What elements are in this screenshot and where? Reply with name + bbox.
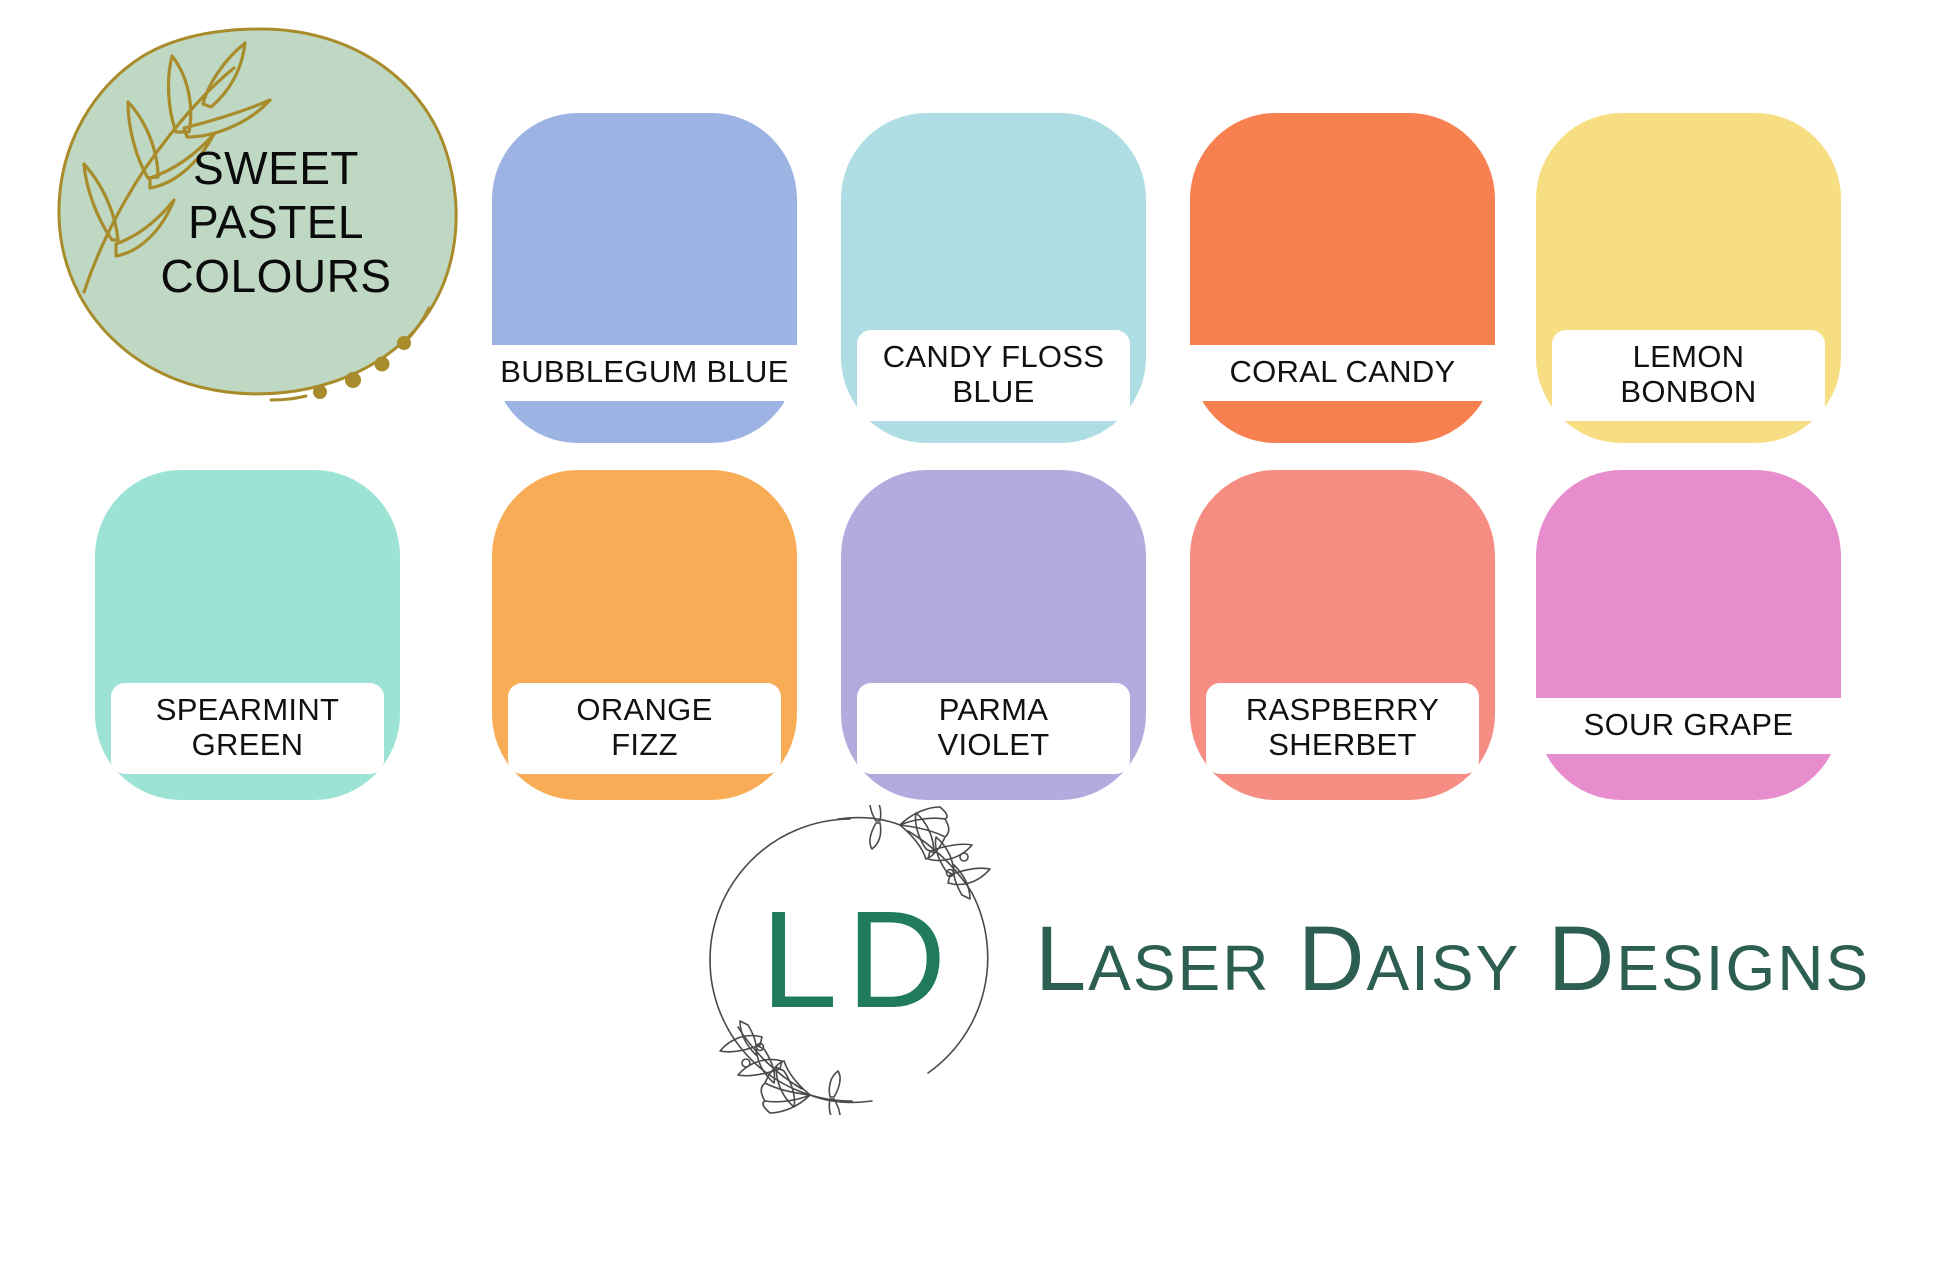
swatch-lemon-bonbon[interactable]: LEMON BONBON [1536, 113, 1841, 443]
swatch-row-1: BUBBLEGUM BLUE CANDY FLOSS BLUE CORAL CA… [95, 113, 1885, 443]
swatch-label: SPEARMINT GREEN [111, 683, 384, 774]
swatch-raspberry-sherbet[interactable]: RASPBERRY SHERBET [1190, 470, 1495, 800]
color-swatch-grid: BUBBLEGUM BLUE CANDY FLOSS BLUE CORAL CA… [95, 113, 1885, 803]
swatch-row-2: SPEARMINT GREEN ORANGE FIZZ PARMA VIOLET… [95, 470, 1885, 800]
swatch-label: BUBBLEGUM BLUE [470, 345, 819, 401]
brand-wordmark: Laser Daisy Designs [1035, 913, 1870, 1005]
swatch-label: RASPBERRY SHERBET [1206, 683, 1479, 774]
swatch-label: SOUR GRAPE [1514, 698, 1863, 754]
swatch-label: PARMA VIOLET [857, 683, 1130, 774]
swatch-label: LEMON BONBON [1552, 330, 1825, 421]
swatch-spearmint-green[interactable]: SPEARMINT GREEN [95, 470, 400, 800]
swatch-bubblegum-blue[interactable]: BUBBLEGUM BLUE [492, 113, 797, 443]
swatch-label: CANDY FLOSS BLUE [857, 330, 1130, 421]
swatch-candy-floss-blue[interactable]: CANDY FLOSS BLUE [841, 113, 1146, 443]
brand-logo: LD Laser Daisy Designs [700, 805, 1880, 1135]
brand-monogram: LD [700, 805, 1010, 1115]
swatch-label: ORANGE FIZZ [508, 683, 781, 774]
swatch-orange-fizz[interactable]: ORANGE FIZZ [492, 470, 797, 800]
swatch-parma-violet[interactable]: PARMA VIOLET [841, 470, 1146, 800]
swatch-coral-candy[interactable]: CORAL CANDY [1190, 113, 1495, 443]
swatch-label: CORAL CANDY [1168, 345, 1517, 401]
swatch-sour-grape[interactable]: SOUR GRAPE [1536, 470, 1841, 800]
